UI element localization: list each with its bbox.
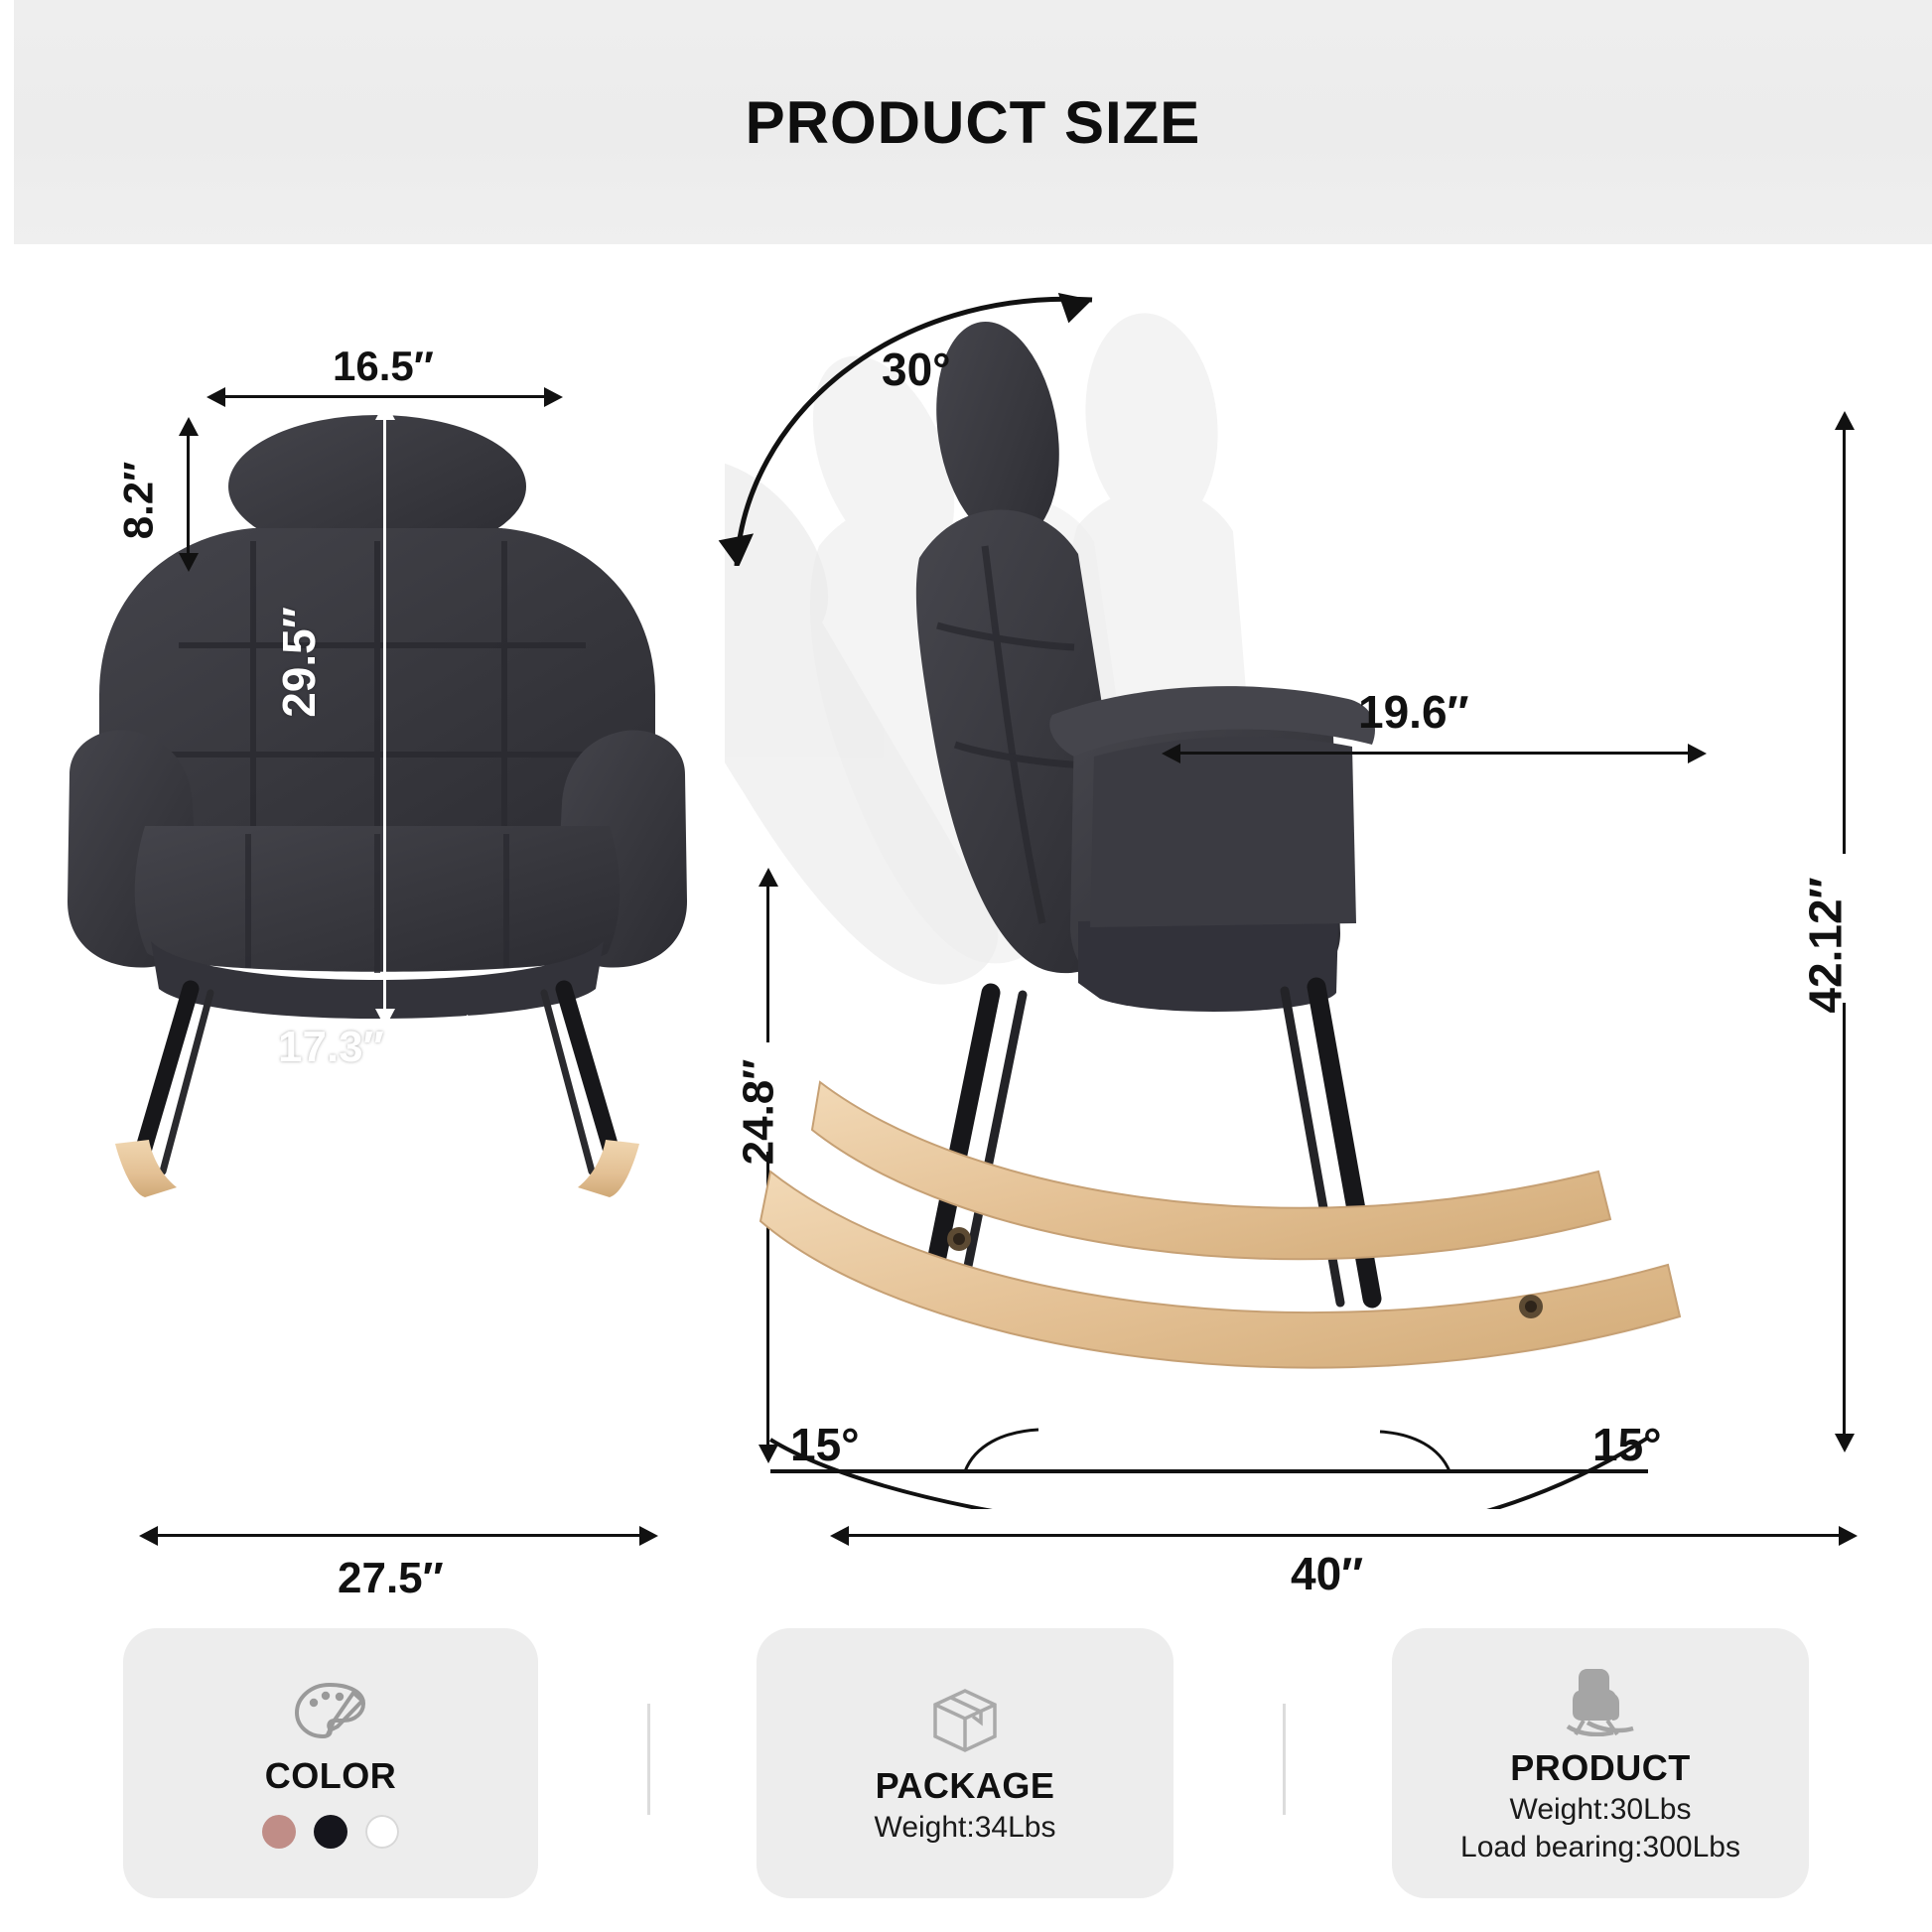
dim-arrow-overall-depth-right: [1839, 1526, 1858, 1546]
card-title-color: COLOR: [265, 1755, 397, 1797]
dim-arrow-seat-depth-left: [1162, 744, 1180, 763]
dim-arrow-backrest-height-top: [375, 401, 395, 420]
card-divider-left: [647, 1704, 650, 1815]
palette-icon: [292, 1679, 369, 1749]
dim-arrow-overall-width-left: [139, 1526, 158, 1546]
dim-label-rocker-angle-left: 15°: [790, 1418, 860, 1471]
dim-arrow-headrest-height-bottom: [179, 553, 199, 572]
dim-line-overall-width: [155, 1534, 641, 1537]
card-title-product: PRODUCT: [1510, 1747, 1691, 1789]
swatch-dusty-rose[interactable]: [262, 1815, 296, 1849]
swatch-black[interactable]: [314, 1815, 347, 1849]
swatch-white[interactable]: [365, 1815, 399, 1849]
dim-label-headrest-width: 16.5″: [333, 343, 434, 390]
card-divider-right: [1283, 1704, 1286, 1815]
dim-label-backrest-height: 29.5″: [272, 607, 326, 718]
dim-label-rocker-angle-right: 15°: [1592, 1418, 1662, 1471]
dim-arrow-overall-height-top: [1835, 411, 1855, 430]
header-band: PRODUCT SIZE: [14, 0, 1932, 244]
dim-line-headrest-height: [187, 434, 190, 558]
dim-label-overall-height: 42.12″: [1799, 877, 1853, 1013]
dim-arrow-headrest-width-right: [544, 387, 563, 407]
dim-arrow-seat-width-right: [467, 1015, 485, 1035]
dim-line-seat-width: [246, 1023, 450, 1026]
dim-line-overall-height-upper: [1843, 427, 1846, 854]
card-title-package: PACKAGE: [876, 1765, 1055, 1807]
dim-arrow-seat-depth-right: [1688, 744, 1707, 763]
dim-label-recline-angle: 30°: [882, 343, 951, 396]
dim-line-overall-depth: [846, 1534, 1841, 1537]
dim-arrow-overall-height-bottom: [1835, 1434, 1855, 1452]
dim-label-headrest-height: 8.2″: [114, 462, 162, 540]
dim-arrow-seat-width-left: [230, 1015, 249, 1035]
dim-arrow-overall-depth-left: [830, 1526, 849, 1546]
rocker-angle-guides: [755, 1320, 1747, 1509]
rocking-chair-icon: [1562, 1663, 1639, 1741]
info-card-product[interactable]: PRODUCT Weight:30Lbs Load bearing:300Lbs: [1392, 1628, 1809, 1898]
info-card-color[interactable]: COLOR: [123, 1628, 538, 1898]
box-icon: [927, 1683, 1003, 1759]
product-size-infographic: PRODUCT SIZE: [0, 0, 1932, 1932]
dim-line-headrest-width: [223, 395, 546, 398]
dim-line-seat-depth: [1177, 752, 1690, 755]
dim-label-seat-width: 17.3″: [278, 1023, 384, 1072]
dim-line-overall-height-lower: [1843, 1003, 1846, 1440]
dim-label-overall-width: 27.5″: [338, 1554, 444, 1603]
dim-line-backrest-height: [383, 417, 386, 1013]
recline-arc-30deg: [695, 248, 1191, 566]
dim-arrow-headrest-width-left: [207, 387, 225, 407]
page-title: PRODUCT SIZE: [746, 88, 1201, 157]
dim-line-seat-width-b: [449, 1023, 469, 1026]
package-weight: Weight:34Lbs: [875, 1811, 1056, 1845]
color-swatches[interactable]: [262, 1815, 399, 1849]
dim-label-seat-depth: 19.6″: [1358, 685, 1469, 739]
dim-label-overall-depth: 40″: [1291, 1547, 1363, 1600]
dim-arrow-headrest-height-top: [179, 417, 199, 436]
info-card-package[interactable]: PACKAGE Weight:34Lbs: [757, 1628, 1173, 1898]
product-load-bearing: Load bearing:300Lbs: [1460, 1831, 1740, 1864]
dim-arrow-overall-width-right: [639, 1526, 658, 1546]
product-weight: Weight:30Lbs: [1510, 1793, 1692, 1827]
